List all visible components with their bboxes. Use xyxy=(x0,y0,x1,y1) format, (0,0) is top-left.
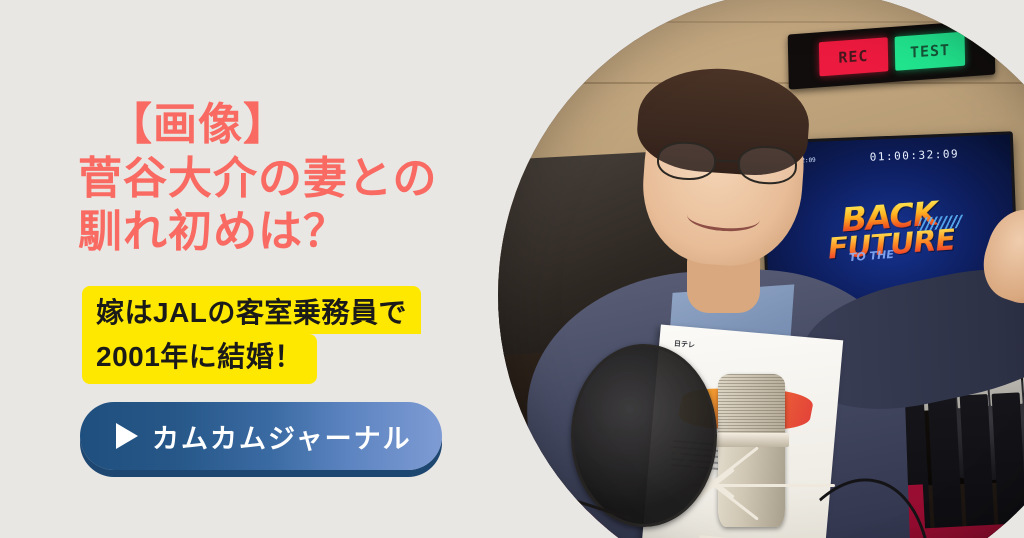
page-title: 【画像】 菅谷大介の妻との 馴れ初めは？ xyxy=(78,98,498,259)
subtitle-line-1: 嫁はJALの客室乗務員で xyxy=(82,286,421,334)
bttf-logo: BACK FUTURE TO THE xyxy=(825,199,956,260)
bttf-speed-lines xyxy=(916,214,964,231)
script-logo: 日テレ xyxy=(673,338,695,350)
subtitle-highlight: 嫁はJALの客室乗務員で 2001年に結婚！ xyxy=(82,286,482,384)
rec-indicator: REC xyxy=(818,37,888,76)
headline-line-3: 馴れ初めは？ xyxy=(78,205,498,259)
headline-line-1: 【画像】 xyxy=(78,98,498,152)
studio-photo: REC TEST 01:00:32:09 01:00:32:09 BACK FU… xyxy=(498,0,1024,538)
play-triangle-icon xyxy=(116,423,138,449)
lens-left xyxy=(656,141,717,182)
microphone-grille xyxy=(718,374,785,435)
subtitle-line-2: 2001年に結婚！ xyxy=(82,334,317,384)
photo-content: REC TEST 01:00:32:09 01:00:32:09 BACK FU… xyxy=(498,0,1024,538)
channel-cta-button[interactable]: カムカムジャーナル xyxy=(80,402,442,470)
headline-line-2: 菅谷大介の妻との xyxy=(78,152,498,206)
lens-right xyxy=(737,145,798,186)
pop-filter xyxy=(571,344,717,527)
cta-label: カムカムジャーナル xyxy=(152,417,412,456)
eyeglasses-icon xyxy=(656,141,798,186)
test-indicator: TEST xyxy=(895,32,965,71)
cable xyxy=(991,392,1024,538)
thumbnail-canvas: REC TEST 01:00:32:09 01:00:32:09 BACK FU… xyxy=(0,0,1024,538)
bttf-subline: TO THE xyxy=(849,251,894,263)
timecode-large: 01:00:32:09 xyxy=(870,148,960,164)
lens-bridge xyxy=(716,160,739,163)
